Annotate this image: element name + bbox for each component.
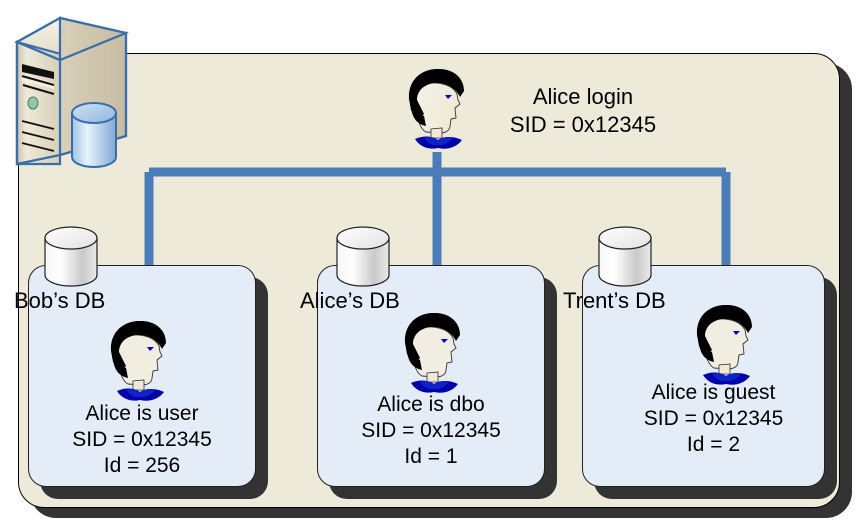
database-cylinder-icon — [334, 225, 392, 291]
database-cylinder-icon — [72, 103, 116, 167]
db-line: Alice is dbo — [317, 392, 545, 418]
person-head-icon — [690, 302, 762, 388]
db-label-trents: Trent’s DB — [563, 288, 666, 314]
db-line: Alice is user — [28, 401, 256, 427]
db-line: SID = 0x12345 — [28, 427, 256, 453]
db-text-bobs: Alice is user SID = 0x12345 Id = 256 — [28, 401, 256, 479]
db-line: Id = 256 — [28, 453, 256, 479]
server-tower-icon — [2, 6, 132, 168]
login-sid: SID = 0x12345 — [483, 111, 683, 139]
db-line: SID = 0x12345 — [592, 406, 835, 432]
db-text-alices: Alice is dbo SID = 0x12345 Id = 1 — [317, 392, 545, 470]
db-label-alices: Alice’s DB — [300, 288, 400, 314]
login-caption: Alice login SID = 0x12345 — [483, 83, 683, 139]
person-head-icon — [402, 66, 474, 152]
person-head-icon — [104, 318, 176, 404]
db-label-bobs: Bob’s DB — [14, 288, 105, 314]
login-title: Alice login — [483, 83, 683, 111]
diagram-canvas: Alice login SID = 0x12345 — [0, 0, 864, 529]
person-head-icon — [398, 310, 470, 396]
database-cylinder-icon — [596, 225, 654, 291]
db-line: Id = 2 — [592, 432, 835, 458]
db-text-trents: Alice is guest SID = 0x12345 Id = 2 — [592, 380, 835, 458]
database-cylinder-icon — [42, 225, 100, 291]
db-line: Id = 1 — [317, 444, 545, 470]
db-line: SID = 0x12345 — [317, 418, 545, 444]
db-line: Alice is guest — [592, 380, 835, 406]
